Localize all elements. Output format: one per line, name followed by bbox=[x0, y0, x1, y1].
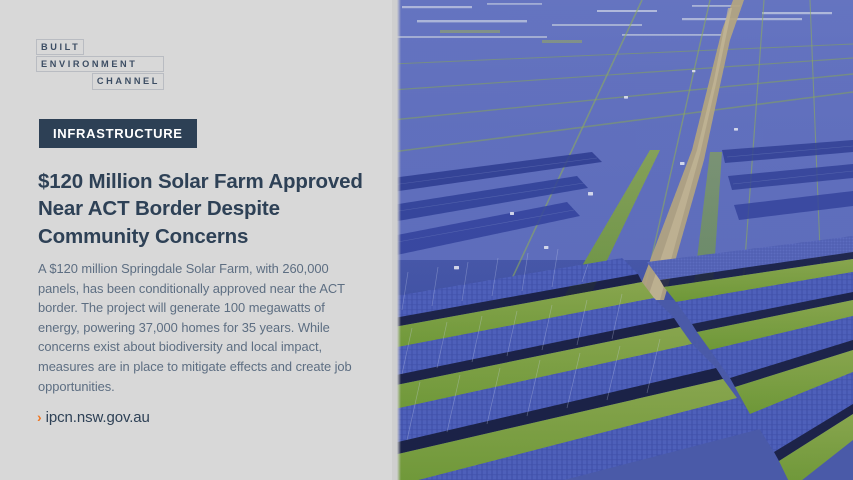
news-card: BUILT ENVIRONMENT CHANNEL INFRASTRUCTURE… bbox=[0, 0, 853, 480]
source-link[interactable]: › ipcn.nsw.gov.au bbox=[37, 410, 150, 425]
logo-row-built: BUILT bbox=[36, 39, 164, 55]
logo-row-channel: CHANNEL bbox=[36, 73, 164, 89]
article-body: A $120 million Springdale Solar Farm, wi… bbox=[38, 259, 352, 396]
chevron-right-icon: › bbox=[37, 410, 42, 424]
brand-logo[interactable]: BUILT ENVIRONMENT CHANNEL bbox=[36, 39, 164, 90]
article-headline: $120 Million Solar Farm Approved Near AC… bbox=[38, 168, 368, 250]
category-badge[interactable]: INFRASTRUCTURE bbox=[39, 119, 197, 148]
solar-farm-illustration bbox=[392, 0, 853, 480]
logo-line-environment: ENVIRONMENT bbox=[36, 56, 164, 72]
source-url-label: ipcn.nsw.gov.au bbox=[46, 410, 150, 425]
photo-left-edge-fade bbox=[392, 0, 401, 480]
logo-line-channel: CHANNEL bbox=[92, 73, 164, 89]
content-panel: BUILT ENVIRONMENT CHANNEL INFRASTRUCTURE… bbox=[0, 0, 392, 480]
logo-line-built: BUILT bbox=[36, 39, 84, 55]
logo-row-environment: ENVIRONMENT bbox=[36, 56, 164, 72]
solar-farm-photo bbox=[392, 0, 853, 480]
